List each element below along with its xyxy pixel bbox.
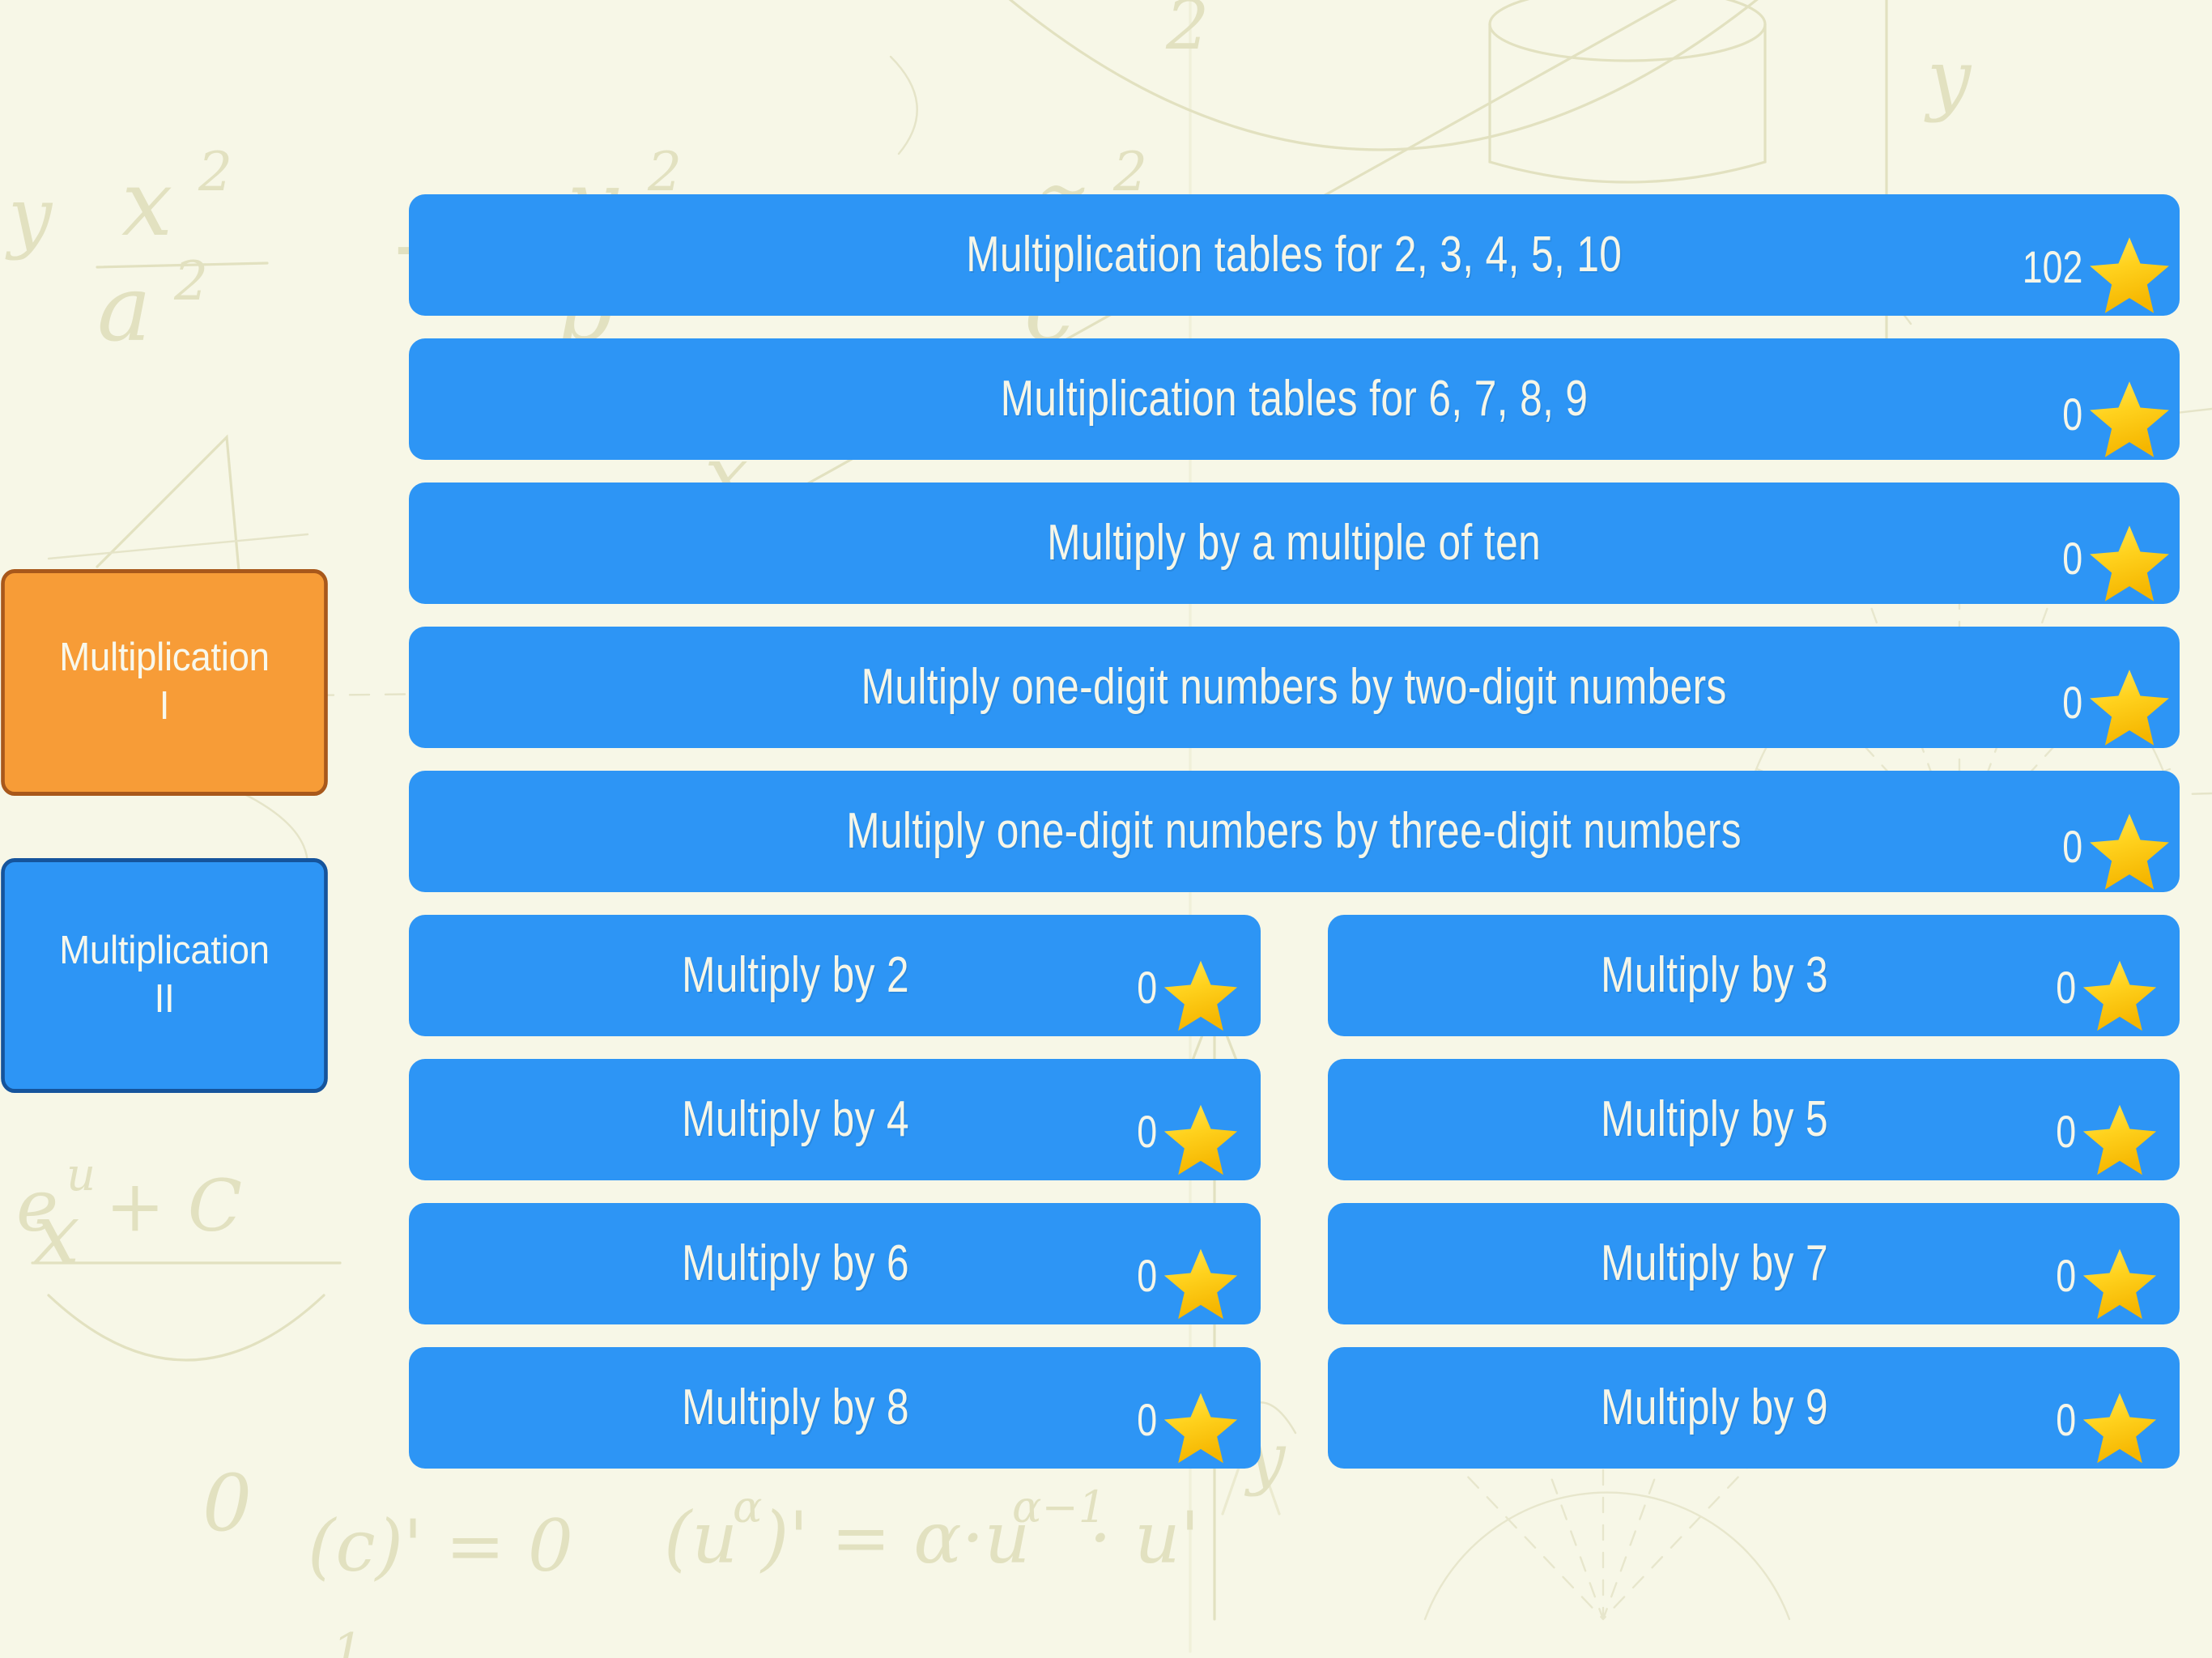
- lesson-title: Multiplication tables for 2, 3, 4, 5, 10: [966, 230, 1622, 280]
- lesson-row: Multiplication tables for 2, 3, 4, 5, 10…: [409, 194, 2180, 316]
- sidebar-item-multiplication-1[interactable]: Multiplication I: [1, 569, 328, 796]
- score-badge: 102: [2007, 230, 2172, 314]
- sidebar-item-label-line2: II: [59, 976, 270, 1024]
- lesson-row: Multiply by 4 0 Multiply by 5 0: [409, 1059, 2180, 1180]
- score-value: 0: [2056, 1109, 2076, 1175]
- svg-text:)' = α·u: )' = α·u: [759, 1496, 1030, 1579]
- lesson-row: Multiply by 8 0 Multiply by 9 0: [409, 1347, 2180, 1469]
- score-value: 0: [1137, 1397, 1157, 1464]
- lesson-tile-multiply-by-4[interactable]: Multiply by 4 0: [409, 1059, 1261, 1180]
- lesson-title: Multiply one-digit numbers by two-digit …: [861, 662, 1727, 712]
- star-icon: [2081, 1101, 2159, 1179]
- star-icon: [1162, 1245, 1240, 1323]
- star-icon: [2081, 957, 2159, 1035]
- sidebar-item-label-line1: Multiplication: [59, 634, 270, 682]
- lesson-tile-multiply-by-7[interactable]: Multiply by 7 0: [1328, 1203, 2180, 1324]
- svg-text:y: y: [1924, 33, 1972, 124]
- lesson-row: Multiply by 6 0 Multiply by 7 0: [409, 1203, 2180, 1324]
- score-badge: 0: [1132, 954, 1240, 1031]
- star-icon: [2081, 1245, 2159, 1323]
- lesson-title: Multiply by 6: [683, 1239, 910, 1289]
- lesson-row: Multiply by a multiple of ten 0: [409, 483, 2180, 604]
- svg-text:· u': · u': [437, 1650, 548, 1658]
- score-value: 0: [1137, 1109, 1157, 1175]
- score-badge: 0: [2057, 806, 2172, 891]
- star-icon: [2087, 665, 2172, 750]
- score-value: 0: [2056, 1253, 2076, 1320]
- score-value: 0: [2056, 1397, 2076, 1464]
- star-icon: [2087, 233, 2172, 317]
- lesson-tile-multiply-by-3[interactable]: Multiply by 3 0: [1328, 915, 2180, 1036]
- score-value: 0: [2062, 680, 2082, 746]
- star-icon: [1162, 1389, 1240, 1467]
- lesson-tile-multiply-by-8[interactable]: Multiply by 8 0: [409, 1347, 1261, 1469]
- lesson-tile-one-digit-by-two-digit[interactable]: Multiply one-digit numbers by two-digit …: [409, 627, 2180, 748]
- score-badge: 0: [2051, 954, 2159, 1031]
- star-icon: [1162, 1101, 1240, 1179]
- star-icon: [2087, 521, 2172, 606]
- lesson-row: Multiplication tables for 6, 7, 8, 9 0: [409, 338, 2180, 460]
- lesson-tile-multiply-by-2[interactable]: Multiply by 2 0: [409, 915, 1261, 1036]
- score-value: 0: [1137, 965, 1157, 1031]
- sidebar-item-multiplication-2[interactable]: Multiplication II: [1, 858, 328, 1093]
- svg-text:2: 2: [1165, 0, 1209, 65]
- lesson-tile-mult-tables-2-3-4-5-10[interactable]: Multiplication tables for 2, 3, 4, 5, 10…: [409, 194, 2180, 316]
- star-icon: [2087, 810, 2172, 894]
- star-icon: [1162, 957, 1240, 1035]
- lesson-tile-multiply-by-5[interactable]: Multiply by 5 0: [1328, 1059, 2180, 1180]
- score-badge: 0: [2051, 1098, 2159, 1175]
- sidebar-item-label-line2: I: [59, 682, 270, 731]
- svg-text:(u: (u: [664, 1496, 738, 1579]
- lesson-list: Multiplication tables for 2, 3, 4, 5, 10…: [409, 194, 2180, 1491]
- lesson-title: Multiply by 5: [1602, 1095, 1829, 1145]
- lesson-title: Multiply by 4: [683, 1095, 910, 1145]
- lesson-tile-mult-tables-6-7-8-9[interactable]: Multiplication tables for 6, 7, 8, 9 0: [409, 338, 2180, 460]
- lesson-title: Multiply by a multiple of ten: [1048, 518, 1542, 568]
- score-value: 0: [2062, 392, 2082, 458]
- lesson-title: Multiply one-digit numbers by three-digi…: [847, 806, 1742, 857]
- score-badge: 0: [2057, 518, 2172, 602]
- lesson-row: Multiply by 2 0 Multiply by 3 0: [409, 915, 2180, 1036]
- lesson-row: Multiply one-digit numbers by two-digit …: [409, 627, 2180, 748]
- score-value: 102: [2022, 244, 2082, 314]
- category-sidebar: Multiplication I Multiplication II: [0, 0, 348, 1658]
- lesson-tile-multiply-by-multiple-of-ten[interactable]: Multiply by a multiple of ten 0: [409, 483, 2180, 604]
- star-icon: [2087, 377, 2172, 461]
- score-badge: 0: [2051, 1242, 2159, 1320]
- lesson-tile-multiply-by-6[interactable]: Multiply by 6 0: [409, 1203, 1261, 1324]
- score-badge: 0: [2051, 1386, 2159, 1464]
- score-badge: 0: [2057, 374, 2172, 458]
- lesson-tile-one-digit-by-three-digit[interactable]: Multiply one-digit numbers by three-digi…: [409, 771, 2180, 892]
- score-badge: 0: [1132, 1098, 1240, 1175]
- score-badge: 0: [1132, 1242, 1240, 1320]
- lesson-row: Multiply one-digit numbers by three-digi…: [409, 771, 2180, 892]
- lesson-title: Multiply by 8: [683, 1383, 910, 1433]
- score-badge: 0: [2057, 662, 2172, 746]
- svg-text:· u': · u': [1089, 1496, 1200, 1579]
- score-value: 0: [1137, 1253, 1157, 1320]
- lesson-title: Multiply by 2: [683, 950, 910, 1001]
- star-icon: [2081, 1389, 2159, 1467]
- score-value: 0: [2056, 965, 2076, 1031]
- lesson-title: Multiply by 7: [1602, 1239, 1829, 1289]
- lesson-title: Multiply by 9: [1602, 1383, 1829, 1433]
- lesson-title: Multiply by 3: [1602, 950, 1829, 1001]
- score-value: 0: [2062, 536, 2082, 602]
- score-badge: 0: [1132, 1386, 1240, 1464]
- sidebar-item-label-line1: Multiplication: [59, 927, 270, 976]
- score-value: 0: [2062, 824, 2082, 891]
- lesson-tile-multiply-by-9[interactable]: Multiply by 9 0: [1328, 1347, 2180, 1469]
- lesson-title: Multiplication tables for 6, 7, 8, 9: [1001, 374, 1589, 424]
